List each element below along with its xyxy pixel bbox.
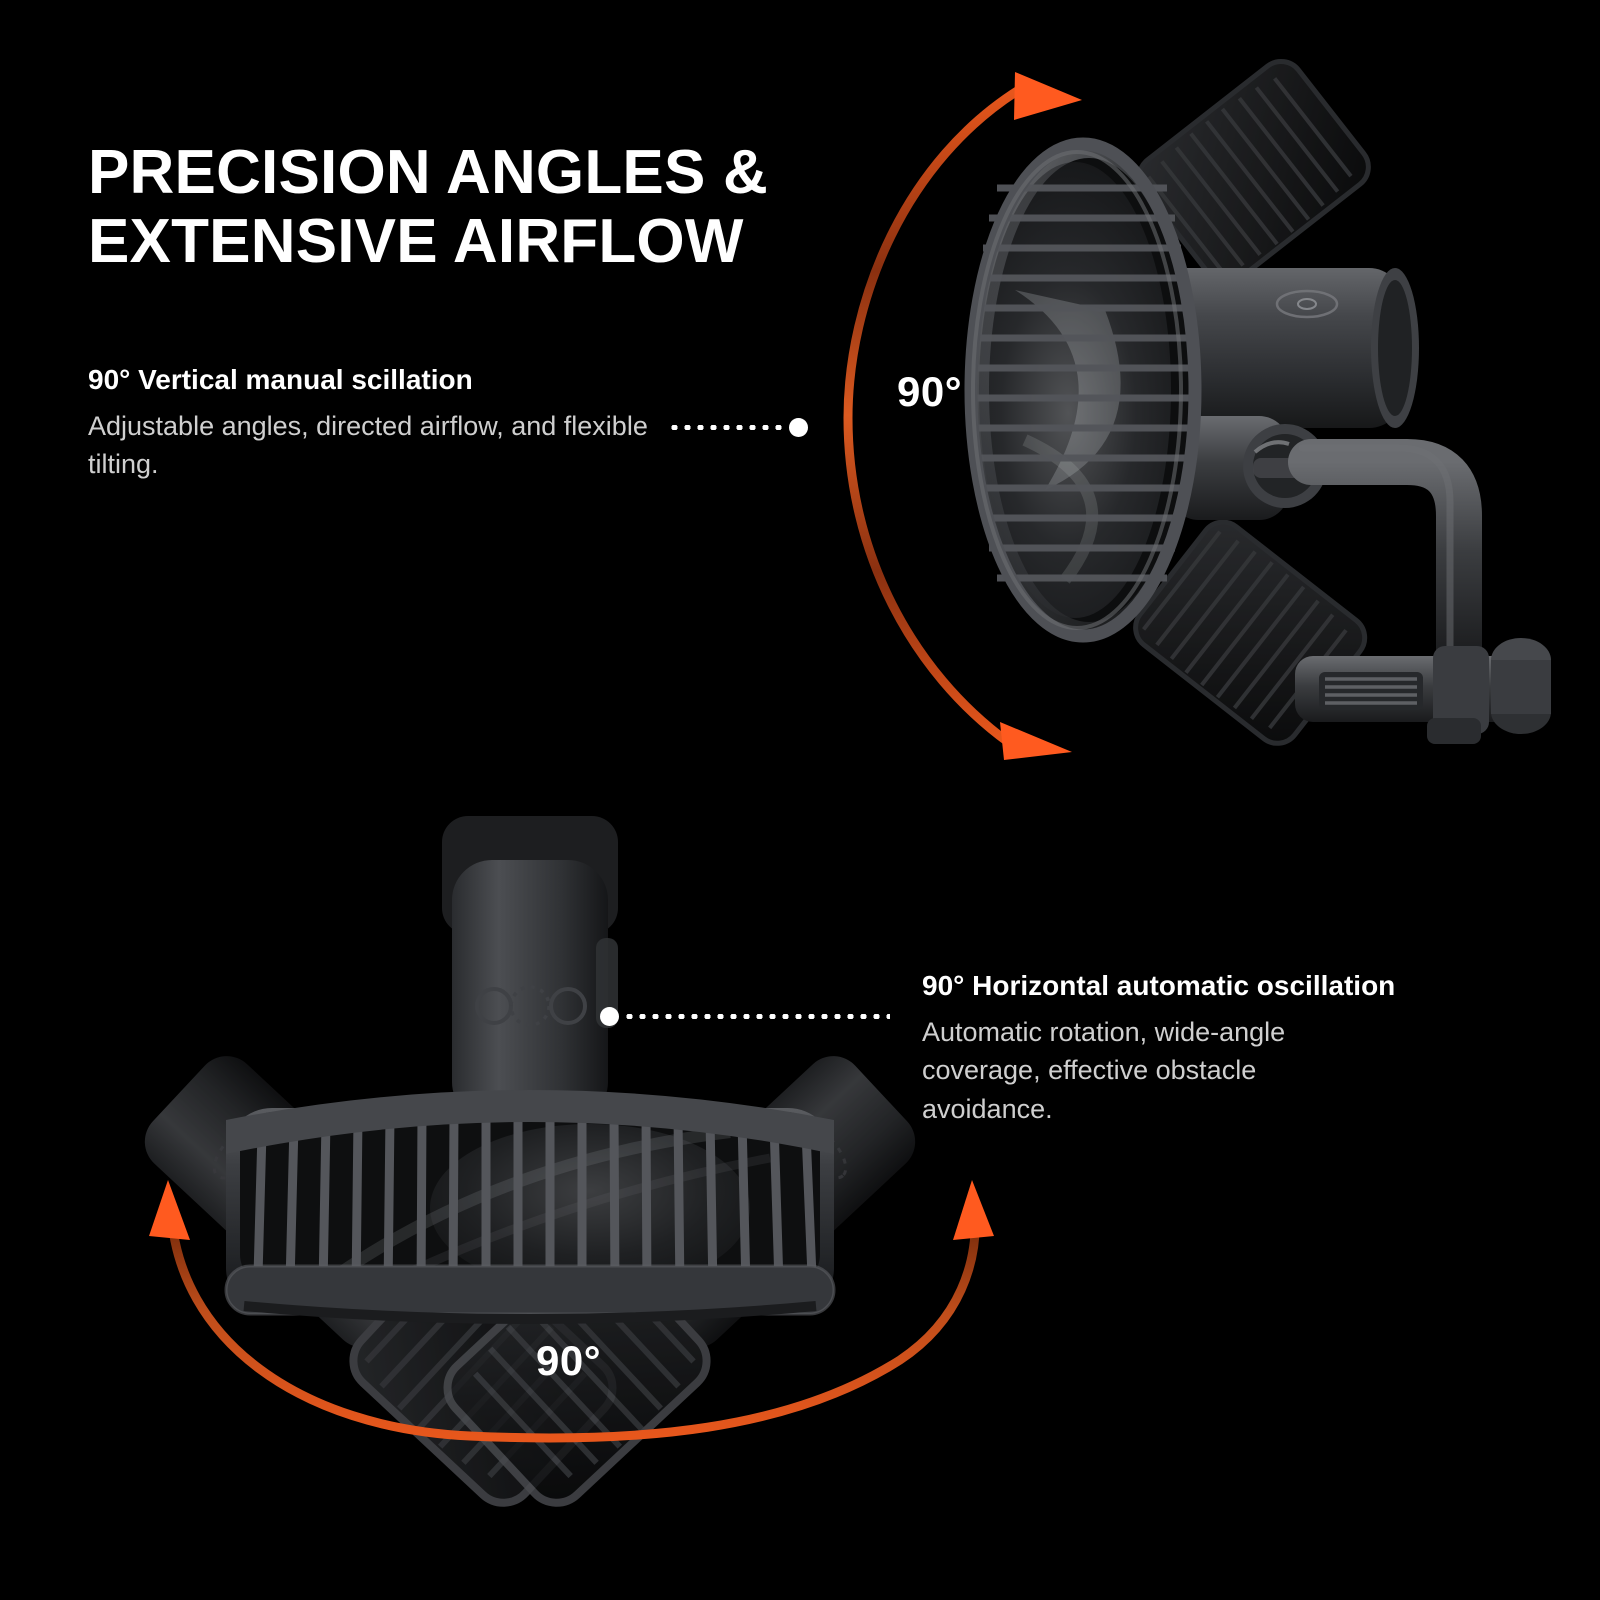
leader-dot-icon [600, 1007, 619, 1026]
leader-line-horizontal [600, 1013, 890, 1019]
feature-body-horizontal: Automatic rotation, wide-angle coverage,… [922, 1013, 1392, 1128]
feature-block-vertical: 90° Vertical manual scillation Adjustabl… [88, 362, 688, 484]
infographic-canvas: PRECISION ANGLES & EXTENSIVE AIRFLOW [0, 0, 1600, 1600]
headline-line-1: PRECISION ANGLES & [88, 138, 768, 207]
page-title: PRECISION ANGLES & EXTENSIVE AIRFLOW [88, 138, 968, 277]
feature-title-horizontal: 90° Horizontal automatic oscillation [922, 968, 1542, 1003]
product-image-horizontal-oscillation [30, 760, 1030, 1380]
leader-dots [623, 1014, 890, 1019]
feature-body-vertical: Adjustable angles, directed airflow, and… [88, 407, 688, 484]
fan-center-grille [226, 1090, 834, 1319]
feature-block-horizontal: 90° Horizontal automatic oscillation Aut… [922, 968, 1542, 1128]
feature-title-vertical: 90° Vertical manual scillation [88, 362, 688, 397]
angle-label-horizontal: 90° [536, 1337, 601, 1385]
angle-label-vertical: 90° [897, 368, 962, 416]
fan-center-body [442, 816, 618, 1122]
leader-dot-icon [789, 418, 808, 437]
headline-line-2: EXTENSIVE AIRFLOW [88, 207, 968, 276]
leader-line-vertical [668, 424, 808, 430]
fan-grille [965, 144, 1195, 636]
product-image-vertical-tilt [955, 60, 1575, 820]
